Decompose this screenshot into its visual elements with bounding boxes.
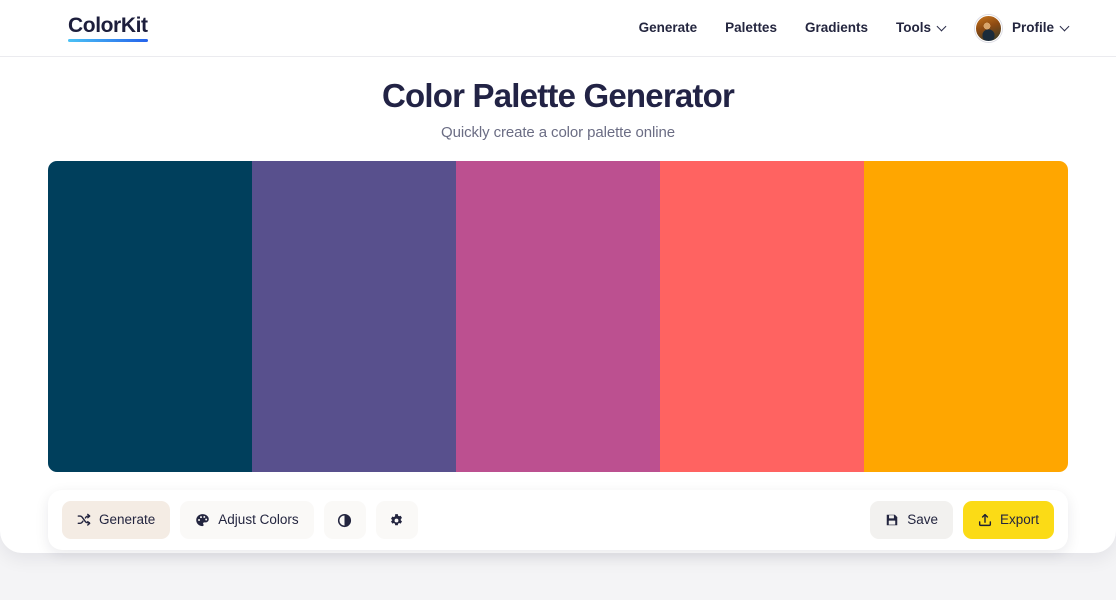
gear-icon bbox=[389, 513, 404, 528]
brand-underline bbox=[68, 39, 148, 42]
upload-icon bbox=[978, 513, 992, 527]
contrast-button[interactable] bbox=[324, 501, 366, 539]
color-swatch-2[interactable] bbox=[252, 161, 456, 472]
color-swatch-5[interactable] bbox=[864, 161, 1068, 472]
nav-item-label: Gradients bbox=[805, 21, 868, 35]
profile-label: Profile bbox=[1012, 21, 1054, 35]
page-subtitle: Quickly create a color palette online bbox=[0, 124, 1116, 141]
generate-button[interactable]: Generate bbox=[62, 501, 170, 539]
contrast-icon bbox=[337, 513, 352, 528]
nav-item-generate[interactable]: Generate bbox=[639, 21, 698, 35]
generate-button-label: Generate bbox=[99, 513, 155, 527]
color-swatch-3[interactable] bbox=[456, 161, 660, 472]
nav-item-label: Generate bbox=[639, 21, 698, 35]
nav-item-label: Tools bbox=[896, 21, 931, 35]
settings-button[interactable] bbox=[376, 501, 418, 539]
chevron-down-icon bbox=[938, 23, 947, 32]
avatar bbox=[975, 15, 1002, 42]
hero-section: Color Palette Generator Quickly create a… bbox=[0, 57, 1116, 141]
export-button[interactable]: Export bbox=[963, 501, 1054, 539]
main-nav: Generate Palettes Gradients Tools Profil… bbox=[639, 15, 1070, 42]
profile-menu[interactable]: Profile bbox=[975, 15, 1070, 42]
nav-item-palettes[interactable]: Palettes bbox=[725, 21, 777, 35]
nav-item-gradients[interactable]: Gradients bbox=[805, 21, 868, 35]
page-root: ColorKit Generate Palettes Gradients Too… bbox=[0, 0, 1116, 600]
chevron-down-icon bbox=[1061, 23, 1070, 32]
export-button-label: Export bbox=[1000, 513, 1039, 527]
site-header: ColorKit Generate Palettes Gradients Too… bbox=[0, 0, 1116, 57]
save-button-label: Save bbox=[907, 513, 938, 527]
toolbar-right-group: Save Export bbox=[870, 501, 1054, 539]
brand-logo[interactable]: ColorKit bbox=[68, 15, 148, 42]
save-button[interactable]: Save bbox=[870, 501, 953, 539]
brand-logo-text: ColorKit bbox=[68, 15, 148, 36]
nav-item-label: Palettes bbox=[725, 21, 777, 35]
app-card: ColorKit Generate Palettes Gradients Too… bbox=[0, 0, 1116, 553]
floppy-disk-icon bbox=[885, 513, 899, 527]
page-title: Color Palette Generator bbox=[0, 75, 1116, 116]
color-swatch-1[interactable] bbox=[48, 161, 252, 472]
color-swatch-4[interactable] bbox=[660, 161, 864, 472]
toolbar-left-group: Generate Adjust Colors bbox=[62, 501, 418, 539]
profile-label-group: Profile bbox=[1012, 21, 1070, 35]
adjust-colors-button-label: Adjust Colors bbox=[218, 513, 298, 527]
adjust-colors-button[interactable]: Adjust Colors bbox=[180, 501, 313, 539]
nav-item-tools[interactable]: Tools bbox=[896, 21, 947, 35]
action-toolbar: Generate Adjust Colors bbox=[48, 490, 1068, 550]
color-palette bbox=[48, 161, 1068, 472]
palette-icon bbox=[195, 513, 210, 528]
shuffle-icon bbox=[77, 513, 91, 527]
